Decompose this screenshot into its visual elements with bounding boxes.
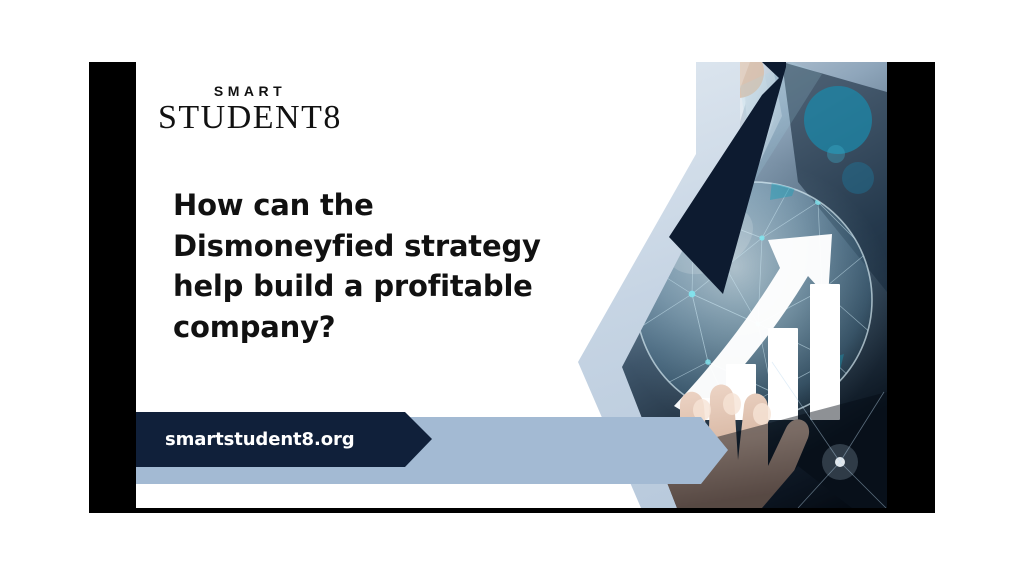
- slide-canvas: SMART STUDENT8 How can the Dismoneyfied …: [0, 0, 1024, 576]
- slide-frame: SMART STUDENT8 How can the Dismoneyfied …: [89, 62, 935, 513]
- brand-logo: SMART STUDENT8: [158, 84, 338, 135]
- logo-main-word: STUDENT8: [158, 101, 338, 135]
- logo-top-word: SMART: [162, 84, 338, 98]
- page-title: How can the Dismoneyfied strategy help b…: [173, 185, 548, 347]
- slide-card: SMART STUDENT8 How can the Dismoneyfied …: [136, 62, 887, 508]
- url-banner-label[interactable]: smartstudent8.org: [136, 412, 405, 467]
